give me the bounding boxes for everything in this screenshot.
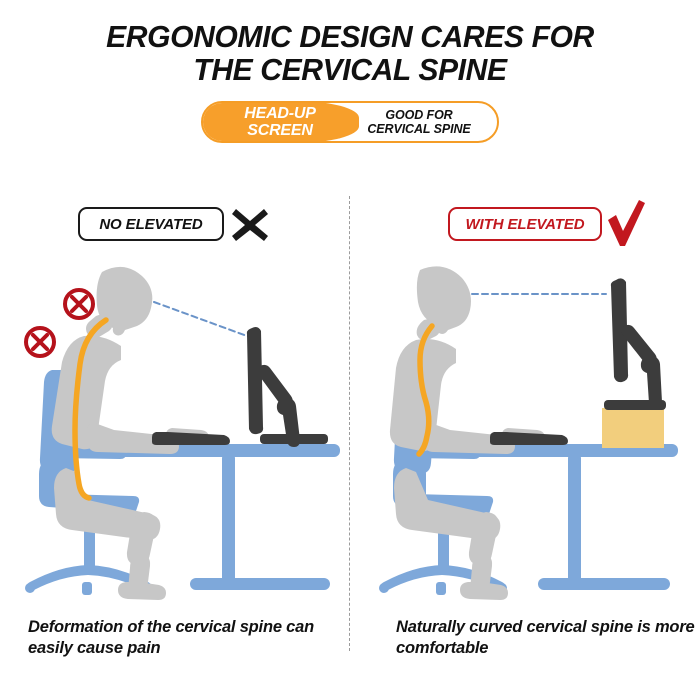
panel-divider (349, 196, 350, 651)
monitor-riser-block (602, 408, 664, 448)
head-up-screen-badge: HEAD-UP SCREEN GOOD FOR CERVICAL SPINE (201, 101, 499, 143)
desk (472, 444, 678, 590)
monitor-low (247, 327, 328, 447)
badge-right-text: GOOD FOR CERVICAL SPINE (349, 103, 489, 141)
page-title: ERGONOMIC DESIGN CARES FOR THE CERVICAL … (0, 20, 700, 86)
badge-left-pill: HEAD-UP SCREEN (201, 101, 359, 143)
illustration-no-elevated (22, 262, 342, 602)
with-elevated-label: WITH ELEVATED (448, 207, 602, 241)
caption-no-elevated: Deformation of the cervical spine can ea… (28, 617, 328, 659)
badge-left-line-2: SCREEN (247, 122, 312, 139)
title-line-1: ERGONOMIC DESIGN CARES FOR (11, 20, 690, 53)
x-mark-icon (230, 205, 270, 245)
infographic-page: ERGONOMIC DESIGN CARES FOR THE CERVICAL … (0, 0, 700, 700)
sight-line-dashed (154, 302, 258, 340)
keyboard (490, 432, 568, 445)
badge-right-line-2: CERVICAL SPINE (367, 122, 470, 136)
caption-with-elevated: Naturally curved cervical spine is more … (396, 617, 696, 659)
title-line-2: THE CERVICAL SPINE (11, 53, 690, 86)
badge-right-line-1: GOOD FOR (385, 108, 452, 122)
warning-marker-back (26, 328, 54, 356)
monitor-elevated (604, 278, 666, 410)
keyboard (152, 432, 230, 445)
no-elevated-label: NO ELEVATED (78, 207, 224, 241)
check-mark-icon (606, 200, 646, 246)
illustration-with-elevated (376, 262, 686, 602)
badge-left-line-1: HEAD-UP (244, 105, 316, 122)
warning-marker-neck (65, 290, 93, 318)
with-elevated-label-text: WITH ELEVATED (466, 216, 585, 233)
no-elevated-label-text: NO ELEVATED (99, 216, 202, 233)
